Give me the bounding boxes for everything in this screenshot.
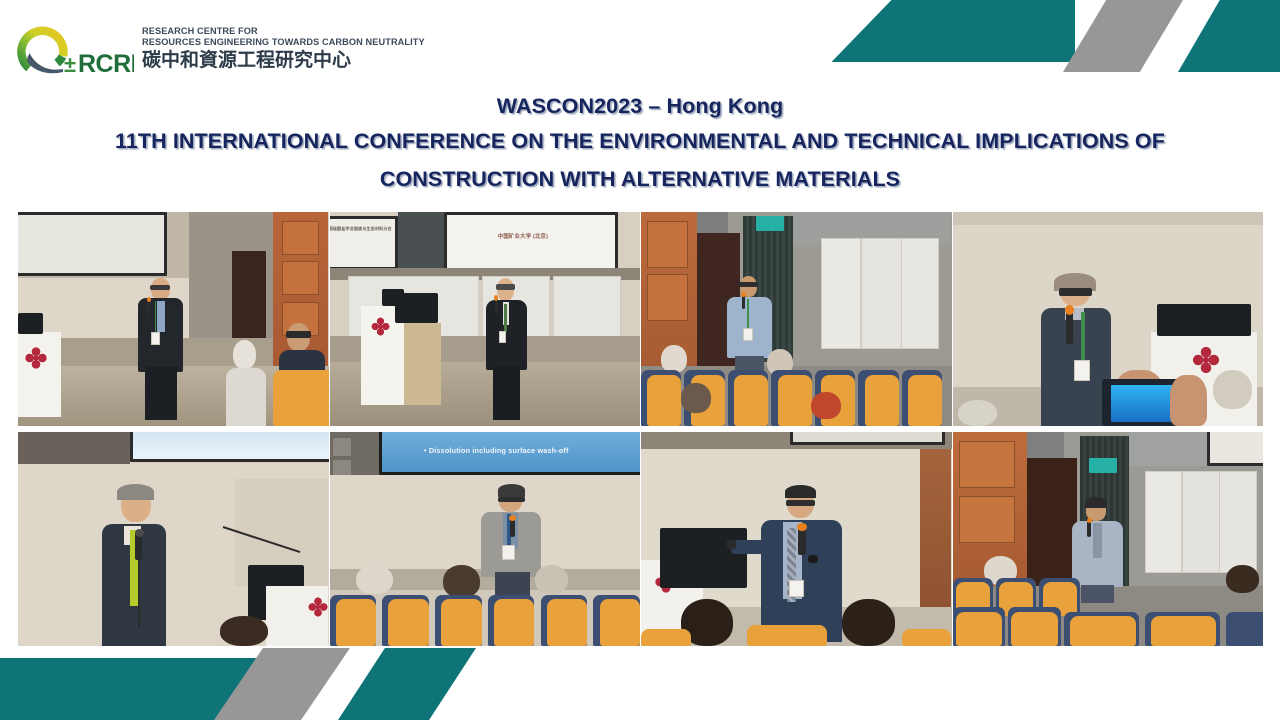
logo-text-block: RESEARCH CENTRE FOR RESOURCES ENGINEERIN… [142, 26, 425, 72]
gallery-photo-7[interactable] [641, 432, 952, 646]
gallery-photo-8[interactable] [953, 432, 1264, 646]
gallery-photo-5[interactable] [18, 432, 329, 646]
rcre-circular-arc-logo: ± RCRE [16, 20, 134, 78]
page-subtitle-line-2: CONSTRUCTION WITH ALTERNATIVE MATERIALS [0, 162, 1280, 196]
gallery-photo-1[interactable] [18, 212, 329, 426]
logo-svg: ± RCRE [16, 20, 134, 78]
svg-text:RCRE: RCRE [78, 50, 134, 78]
exit-sign-icon [1089, 458, 1117, 473]
gallery-photo-3[interactable] [641, 212, 952, 426]
bottom-left-teal-ribbon-2 [338, 648, 476, 720]
logo-line-en-2: RESOURCES ENGINEERING TOWARDS CARBON NEU… [142, 37, 425, 48]
photo-gallery: 中国硅酸盐学会固废与生态材料分会 中国矿业大学 (北京) [18, 212, 1263, 646]
slide-title-block: WASCON2023 – Hong Kong 11TH INTERNATIONA… [0, 92, 1280, 196]
logo-line-zh: 碳中和資源工程研究中心 [142, 49, 425, 72]
svg-text:±: ± [64, 52, 76, 77]
page-title: WASCON2023 – Hong Kong [0, 92, 1280, 120]
logo-line-en-1: RESEARCH CENTRE FOR [142, 26, 425, 37]
page-subtitle-line-1: 11TH INTERNATIONAL CONFERENCE ON THE ENV… [0, 124, 1280, 158]
gallery-photo-4[interactable] [953, 212, 1264, 426]
gallery-photo-2[interactable]: 中国硅酸盐学会固废与生态材料分会 中国矿业大学 (北京) [330, 212, 641, 426]
top-right-teal-ribbon-1 [820, 0, 1075, 62]
top-right-gray-ribbon [1063, 0, 1183, 72]
photo-6-slide-text: • Dissolution including surface wash-off [424, 446, 569, 455]
rcre-logo: ± RCRE RESEARCH CENTRE FOR RESOURCES ENG… [16, 20, 425, 78]
presentation-slide: ± RCRE RESEARCH CENTRE FOR RESOURCES ENG… [0, 0, 1280, 720]
top-right-teal-ribbon-2 [1178, 0, 1280, 72]
gallery-photo-6[interactable]: • Dissolution including surface wash-off [330, 432, 641, 646]
